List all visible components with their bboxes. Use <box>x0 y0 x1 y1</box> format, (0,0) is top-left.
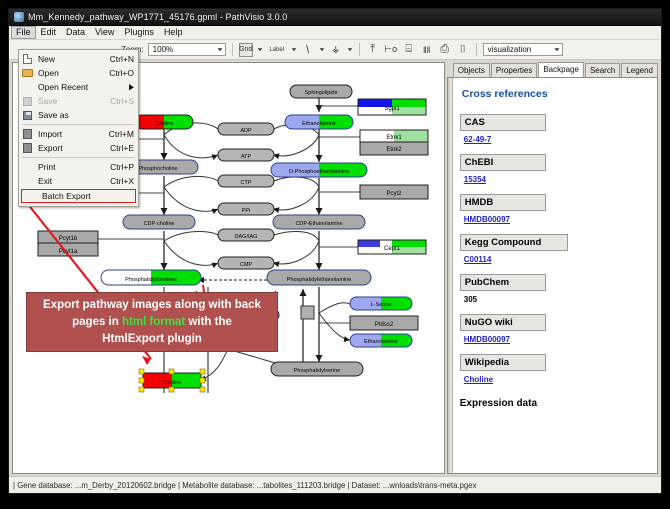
zoom-value: 100% <box>153 45 173 54</box>
align-left-glyph: ⊢o <box>384 44 397 55</box>
window-title: Mm_Kennedy_pathway_WP1771_45176.gpml - P… <box>28 12 287 22</box>
menu-item-accel: Ctrl+M <box>104 129 134 139</box>
svg-text:ATP: ATP <box>241 154 252 160</box>
title-bar: Mm_Kennedy_pathway_WP1771_45176.gpml - P… <box>9 9 661 26</box>
gene-product-icon[interactable]: Gnd <box>239 43 253 57</box>
svg-text:Phosphocholine: Phosphocholine <box>138 166 177 172</box>
chevron-down-icon: ▼ <box>216 47 224 52</box>
svg-text:Ethanolamine: Ethanolamine <box>364 339 398 345</box>
screenshot-frame: Mm_Kennedy_pathway_WP1771_45176.gpml - P… <box>0 0 670 509</box>
menu-item-accel: Ctrl+X <box>105 176 134 186</box>
menu-item-exit[interactable]: Exit Ctrl+X <box>19 174 138 188</box>
metabolite-node-l-serine[interactable]: L-Serine <box>350 297 412 310</box>
menu-item-accel: Ctrl+S <box>105 96 134 106</box>
line-icon[interactable]: \ <box>301 43 315 57</box>
svg-text:CMP: CMP <box>240 262 253 268</box>
backpage-scrollbar[interactable] <box>448 78 453 473</box>
status-bar: | Gene database: ...m_Derby_20120602.bri… <box>9 476 661 493</box>
align-top-glyph: ⤒ <box>370 43 375 56</box>
gene-node-pcyt2[interactable]: Pcyt2 <box>360 185 428 199</box>
gene-node-ptdss2[interactable]: Ptdss2 <box>350 316 418 330</box>
xref-label-pubchem: PubChem <box>460 274 546 291</box>
save-icon <box>21 96 34 107</box>
gene-node-etnk1[interactable]: Etnk1 <box>360 130 428 142</box>
expression-data-heading: Expression data <box>460 398 647 409</box>
status-text: | Gene database: ...m_Derby_20120602.bri… <box>13 481 477 490</box>
menu-separator <box>22 157 135 158</box>
menu-item-accel: Ctrl+E <box>105 143 134 153</box>
menu-file[interactable]: File <box>11 26 36 39</box>
menu-item-label: Open Recent <box>38 82 124 92</box>
toolbar-separator <box>476 43 477 56</box>
menu-item-save-as[interactable]: Save as <box>19 108 138 122</box>
svg-text:Ethanolamine: Ethanolamine <box>302 121 336 127</box>
menu-item-label: Save <box>38 96 105 106</box>
menu-item-open[interactable]: Open Ctrl+O <box>19 66 138 80</box>
new-document-icon <box>21 54 34 65</box>
metabolite-node-phosphatidylserine[interactable]: Phosphatidylserine <box>271 362 363 376</box>
gene-node-pcyt1b[interactable]: Pcyt1b <box>38 231 98 243</box>
menu-item-label: Import <box>38 129 104 139</box>
line-glyph: \ <box>306 44 309 56</box>
menu-plugins[interactable]: Plugins <box>119 26 159 39</box>
xref-label-cas: CAS <box>460 114 546 131</box>
callout-line-1: Export pathway images along with back <box>27 297 277 314</box>
metabolite-node-sphingolipids[interactable]: Sphingolipids <box>290 85 352 98</box>
backpage-heading: Cross references <box>462 88 647 100</box>
svg-text:CTP: CTP <box>241 180 252 186</box>
xref-label-hmdb: HMDB <box>460 194 546 211</box>
visualization-value: visualization <box>488 45 532 54</box>
menu-item-new[interactable]: New Ctrl+N <box>19 52 138 66</box>
menu-item-accel: Ctrl+P <box>105 162 134 172</box>
tab-backpage[interactable]: Backpage <box>538 62 584 77</box>
group-glyph: ⌷ <box>460 44 466 55</box>
align-top-icon[interactable]: ⤒ <box>366 43 380 57</box>
stack-glyph: ⌸ <box>405 43 412 56</box>
stack-center-icon[interactable]: ⌸ <box>402 43 416 57</box>
zoom-combobox[interactable]: 100% ▼ <box>148 43 226 56</box>
export-icon <box>21 143 34 154</box>
metabolite-node-choline-top[interactable]: Choline <box>135 115 193 129</box>
xref-label-nugo: NuGO wiki <box>460 314 546 331</box>
svg-text:Choline: Choline <box>163 380 182 386</box>
callout-line-2-pre: pages in <box>72 316 122 328</box>
xref-label-wikipedia: Wikipedia <box>460 354 546 371</box>
menu-item-import[interactable]: Import Ctrl+M <box>19 127 138 141</box>
callout-line-3: HtmlExport plugin <box>27 331 277 348</box>
svg-text:Etnk2: Etnk2 <box>386 147 402 153</box>
svg-text:Ptdss2: Ptdss2 <box>375 322 394 328</box>
svg-text:ADP: ADP <box>240 128 252 134</box>
xref-value-hmdb[interactable]: HMDB00097 <box>464 215 510 224</box>
visualization-combobox[interactable]: visualization ▼ <box>483 43 563 56</box>
sidebar-tabstrip: Objects Properties Backpage Search Legen… <box>447 62 658 77</box>
distribute-icon[interactable]: ‖‖ <box>420 43 434 57</box>
svg-text:CDP-choline: CDP-choline <box>144 221 175 227</box>
svg-text:Phosphatidylethanolamine: Phosphatidylethanolamine <box>287 277 352 283</box>
menu-data[interactable]: Data <box>61 26 90 39</box>
metabolite-node-cdp-ethanolamine[interactable]: CDP-Ethanolamine <box>273 215 365 229</box>
svg-text:Pcyt1b: Pcyt1b <box>59 236 78 242</box>
menu-item-label: Batch Export <box>42 191 132 201</box>
chevron-right-icon: ▶ <box>124 82 133 92</box>
svg-text:DAG/IAG: DAG/IAG <box>235 234 258 240</box>
menu-item-label: Open <box>38 68 104 78</box>
xref-value-pubchem: 305 <box>464 295 477 304</box>
toolbar-separator <box>359 43 360 56</box>
pathvisio-icon <box>14 12 24 22</box>
svg-text:O-Phosphoethanolamine: O-Phosphoethanolamine <box>289 169 350 175</box>
svg-text:CDP-Ethanolamine: CDP-Ethanolamine <box>295 221 342 227</box>
gene-node-etnk2[interactable]: Etnk2 <box>360 142 428 155</box>
metabolite-node-phosphatidylethanolamine[interactable]: Phosphatidylethanolamine <box>267 270 371 285</box>
chevron-down-icon: ▼ <box>553 47 561 52</box>
menu-item-batch-export[interactable]: Batch Export <box>21 189 136 203</box>
blank-icon <box>21 176 34 187</box>
blank-icon <box>21 162 34 173</box>
chevron-down-icon[interactable]: ▼ <box>256 47 264 52</box>
receptor-glyph: ⚶ <box>332 44 340 55</box>
toolbar-separator <box>232 43 233 56</box>
tab-search[interactable]: Search <box>585 63 620 77</box>
menu-item-accel: Ctrl+N <box>105 54 134 64</box>
svg-text:Cept1: Cept1 <box>384 246 401 252</box>
label-icon[interactable]: Label <box>267 43 287 57</box>
group-icon[interactable]: ⌷ <box>456 43 470 57</box>
print-glyph: ⎙ <box>440 43 449 56</box>
xref-label-chebi: ChEBI <box>460 154 546 171</box>
menu-bar: File Edit Data View Plugins Help <box>9 26 661 40</box>
menu-edit[interactable]: Edit <box>36 26 62 39</box>
chevron-down-icon[interactable]: ▼ <box>290 47 298 52</box>
gene-product-glyph: Gnd <box>239 46 252 53</box>
xref-value-chebi[interactable]: 15354 <box>464 175 486 184</box>
menu-view[interactable]: View <box>90 26 119 39</box>
menu-separator <box>22 124 135 125</box>
svg-text:Phosphatidylcholines: Phosphatidylcholines <box>125 277 177 283</box>
gene-node-sgpl1[interactable]: Sgpl1 <box>358 99 426 115</box>
menu-help[interactable]: Help <box>159 26 188 39</box>
application-window: Mm_Kennedy_pathway_WP1771_45176.gpml - P… <box>8 8 662 494</box>
metabolite-node-ppi[interactable]: PPi <box>218 203 274 215</box>
menu-item-print[interactable]: Print Ctrl+P <box>19 160 138 174</box>
svg-text:PPi: PPi <box>242 208 251 214</box>
svg-text:L-Serine: L-Serine <box>371 302 392 308</box>
metabolite-node-dag-iag[interactable]: DAG/IAG <box>218 229 274 241</box>
menu-item-label: New <box>38 54 105 64</box>
distribute-glyph: ‖‖ <box>423 45 430 55</box>
menu-item-label: Exit <box>38 176 105 186</box>
svg-text:Sgpl1: Sgpl1 <box>384 106 400 112</box>
receptor-icon[interactable]: ⚶ <box>329 43 343 57</box>
align-left-icon[interactable]: ⊢o <box>384 43 398 57</box>
print-icon[interactable]: ⎙ <box>438 43 452 57</box>
svg-text:Phosphatidylserine: Phosphatidylserine <box>294 368 340 374</box>
gene-node-cept1[interactable]: Cept1 <box>358 240 426 254</box>
metabolite-node-cmp[interactable]: CMP <box>218 257 274 269</box>
metabolite-node-ethanolamine-bottom[interactable]: Ethanolamine <box>350 334 412 347</box>
metabolite-node-choline-selected[interactable]: Choline <box>139 369 205 392</box>
metabolite-node-o-phosphoethanolamine[interactable]: O-Phosphoethanolamine <box>271 163 367 177</box>
blank-icon <box>21 82 34 93</box>
menu-item-accel: Ctrl+O <box>104 68 134 78</box>
callout-highlight: html format <box>122 316 185 328</box>
callout-line-2-post: with the <box>185 316 232 328</box>
open-folder-icon <box>21 68 34 79</box>
callout-line-2: pages in html format with the <box>27 314 277 331</box>
menu-item-open-recent[interactable]: Open Recent ▶ <box>19 80 138 94</box>
metabolite-node-atp[interactable]: ATP <box>218 149 274 161</box>
svg-text:Pcyt2: Pcyt2 <box>386 191 402 197</box>
menu-item-label: Print <box>38 162 105 172</box>
chevron-down-icon[interactable]: ▼ <box>346 47 354 52</box>
xref-value-kegg[interactable]: C00114 <box>464 255 492 264</box>
import-icon <box>21 129 34 140</box>
metabolite-node-adp[interactable]: ADP <box>218 123 274 135</box>
metabolite-node-ethanolamine-top[interactable]: Ethanolamine <box>285 115 353 129</box>
menu-item-label: Export <box>38 143 105 153</box>
xref-value-nugo[interactable]: HMDB00097 <box>464 335 510 344</box>
sidebar-panel: Objects Properties Backpage Search Legen… <box>447 62 658 474</box>
svg-text:Sphingolipids: Sphingolipids <box>305 90 338 96</box>
save-as-icon <box>21 110 34 121</box>
svg-text:Choline: Choline <box>155 121 174 127</box>
label-glyph: Label <box>269 47 284 53</box>
tab-objects[interactable]: Objects <box>453 63 490 77</box>
annotation-callout: Export pathway images along with back pa… <box>26 292 278 352</box>
menu-item-save: Save Ctrl+S <box>19 94 138 108</box>
metabolite-node-ctp[interactable]: CTP <box>218 175 274 187</box>
xref-value-wikipedia[interactable]: Choline <box>464 375 493 384</box>
file-menu-dropdown[interactable]: New Ctrl+N Open Ctrl+O Open Recent ▶ Sav… <box>18 49 139 207</box>
gene-node-pcyt1a[interactable]: Pcyt1a <box>38 243 98 256</box>
svg-text:Pcyt1a: Pcyt1a <box>59 249 78 255</box>
svg-text:Etnk1: Etnk1 <box>386 135 402 141</box>
tab-properties[interactable]: Properties <box>491 63 537 77</box>
chevron-down-icon[interactable]: ▼ <box>318 47 326 52</box>
xref-value-cas[interactable]: 62-49-7 <box>464 135 492 144</box>
menu-item-export[interactable]: Export Ctrl+E <box>19 141 138 155</box>
tab-legend[interactable]: Legend <box>621 63 658 77</box>
menu-item-label: Save as <box>38 110 129 120</box>
backpage-content[interactable]: Cross references CAS 62-49-7 ChEBI 15354… <box>447 77 658 474</box>
metabolite-node-cdp-choline[interactable]: CDP-choline <box>123 215 195 229</box>
xref-label-kegg: Kegg Compound <box>460 234 568 251</box>
blank-icon <box>25 191 38 202</box>
metabolite-node-phosphatidylcholines[interactable]: Phosphatidylcholines <box>101 270 201 285</box>
